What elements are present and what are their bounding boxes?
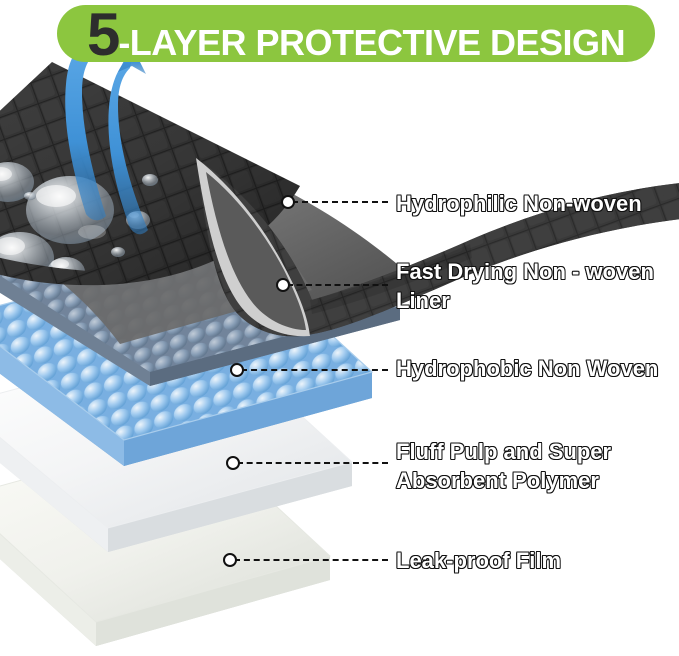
layer-label-3: Hydrophobic Non Woven xyxy=(396,355,658,384)
layer-label-4: Fluff Pulp and Super Absorbent Polymer xyxy=(396,438,611,495)
banner-number: 5 xyxy=(87,5,118,65)
layer-label-2: Fast Drying Non - woven Liner xyxy=(396,258,654,315)
layer-stack-illustration xyxy=(0,0,679,656)
callout-dot-3 xyxy=(230,363,244,377)
callout-line-4 xyxy=(237,462,388,464)
infographic-root: 5 -LAYER PROTECTIVE DESIGN Hydrophilic N… xyxy=(0,0,679,656)
callout-line-1 xyxy=(292,201,388,203)
header-banner: 5 -LAYER PROTECTIVE DESIGN xyxy=(57,5,655,62)
layer-label-5: Leak-proof Film xyxy=(396,547,561,576)
callout-dot-1 xyxy=(281,195,295,209)
callout-dot-4 xyxy=(226,456,240,470)
layer-label-1: Hydrophilic Non-woven xyxy=(396,190,642,219)
banner-title: -LAYER PROTECTIVE DESIGN xyxy=(118,25,625,61)
callout-line-2 xyxy=(287,284,388,286)
callout-line-3 xyxy=(241,369,388,371)
callout-dot-2 xyxy=(276,278,290,292)
callout-dot-5 xyxy=(223,553,237,567)
callout-line-5 xyxy=(234,559,388,561)
